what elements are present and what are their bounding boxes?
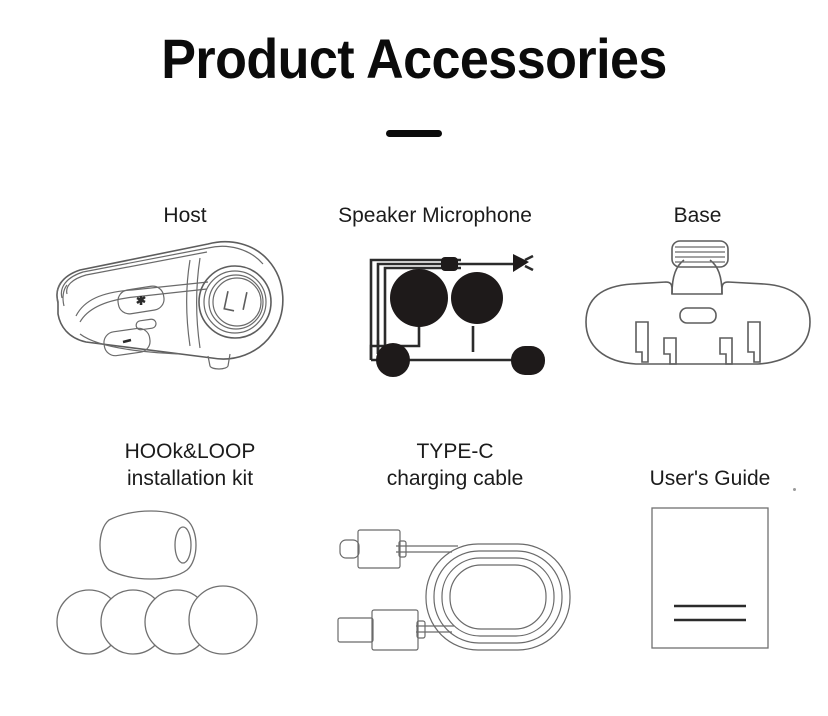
page-title: Product Accessories bbox=[29, 26, 799, 92]
speaker-left bbox=[390, 269, 448, 327]
base-center-slot bbox=[680, 308, 716, 323]
accessory-row-2: HOOk&LOOP installation kit TYPE-C chargi… bbox=[0, 430, 828, 670]
accessory-label-speaker-microphone: Speaker Microphone bbox=[315, 202, 555, 229]
base-slot-2 bbox=[664, 338, 676, 364]
accessory-item-hook-and-loop: HOOk&LOOP installation kit bbox=[45, 430, 335, 670]
image-speck bbox=[793, 488, 796, 491]
speaker-microphone-headset-icon bbox=[315, 242, 555, 392]
velcro-tape-roll bbox=[100, 511, 196, 579]
accessory-item-base: Base bbox=[580, 190, 815, 400]
usb-c-connector bbox=[340, 530, 406, 568]
speaker-right bbox=[451, 272, 503, 324]
base-slot-4 bbox=[748, 322, 760, 362]
accessory-label-base: Base bbox=[580, 202, 815, 229]
usb-type-c-cable-icon bbox=[330, 508, 580, 663]
helmet-mount-base-plate-icon bbox=[580, 236, 815, 391]
inline-connector bbox=[441, 257, 458, 271]
accessory-label-hook-and-loop: HOOk&LOOP installation kit bbox=[45, 438, 335, 492]
accessory-item-host: Host bbox=[40, 190, 330, 400]
user-guide-booklet-icon bbox=[590, 490, 828, 660]
base-slot-1 bbox=[636, 322, 648, 362]
header: Product Accessories bbox=[0, 0, 828, 165]
title-divider bbox=[386, 130, 442, 137]
accessory-item-users-guide: User's Guide bbox=[590, 430, 828, 670]
host-function-button bbox=[103, 327, 152, 357]
cable-coil bbox=[426, 544, 570, 650]
microphone-capsule bbox=[511, 346, 545, 375]
accessory-label-type-c-cable: TYPE-C charging cable bbox=[330, 438, 580, 492]
audio-plug-icon bbox=[513, 254, 529, 272]
booklet-cover bbox=[652, 508, 768, 648]
usb-a-connector bbox=[338, 610, 425, 650]
accessory-label-host: Host bbox=[40, 202, 330, 229]
accessory-row-1: Host bbox=[0, 190, 828, 400]
velcro-pad-4 bbox=[189, 586, 257, 654]
accessory-item-speaker-microphone: Speaker Microphone bbox=[315, 190, 555, 400]
control-button bbox=[376, 343, 410, 377]
host-rotary-dial bbox=[199, 266, 271, 338]
hook-and-loop-velcro-pads-icon bbox=[45, 498, 335, 663]
base-slot-3 bbox=[720, 338, 732, 364]
bluetooth-intercom-host-icon bbox=[40, 230, 330, 390]
accessory-item-type-c-cable: TYPE-C charging cable bbox=[330, 430, 580, 670]
